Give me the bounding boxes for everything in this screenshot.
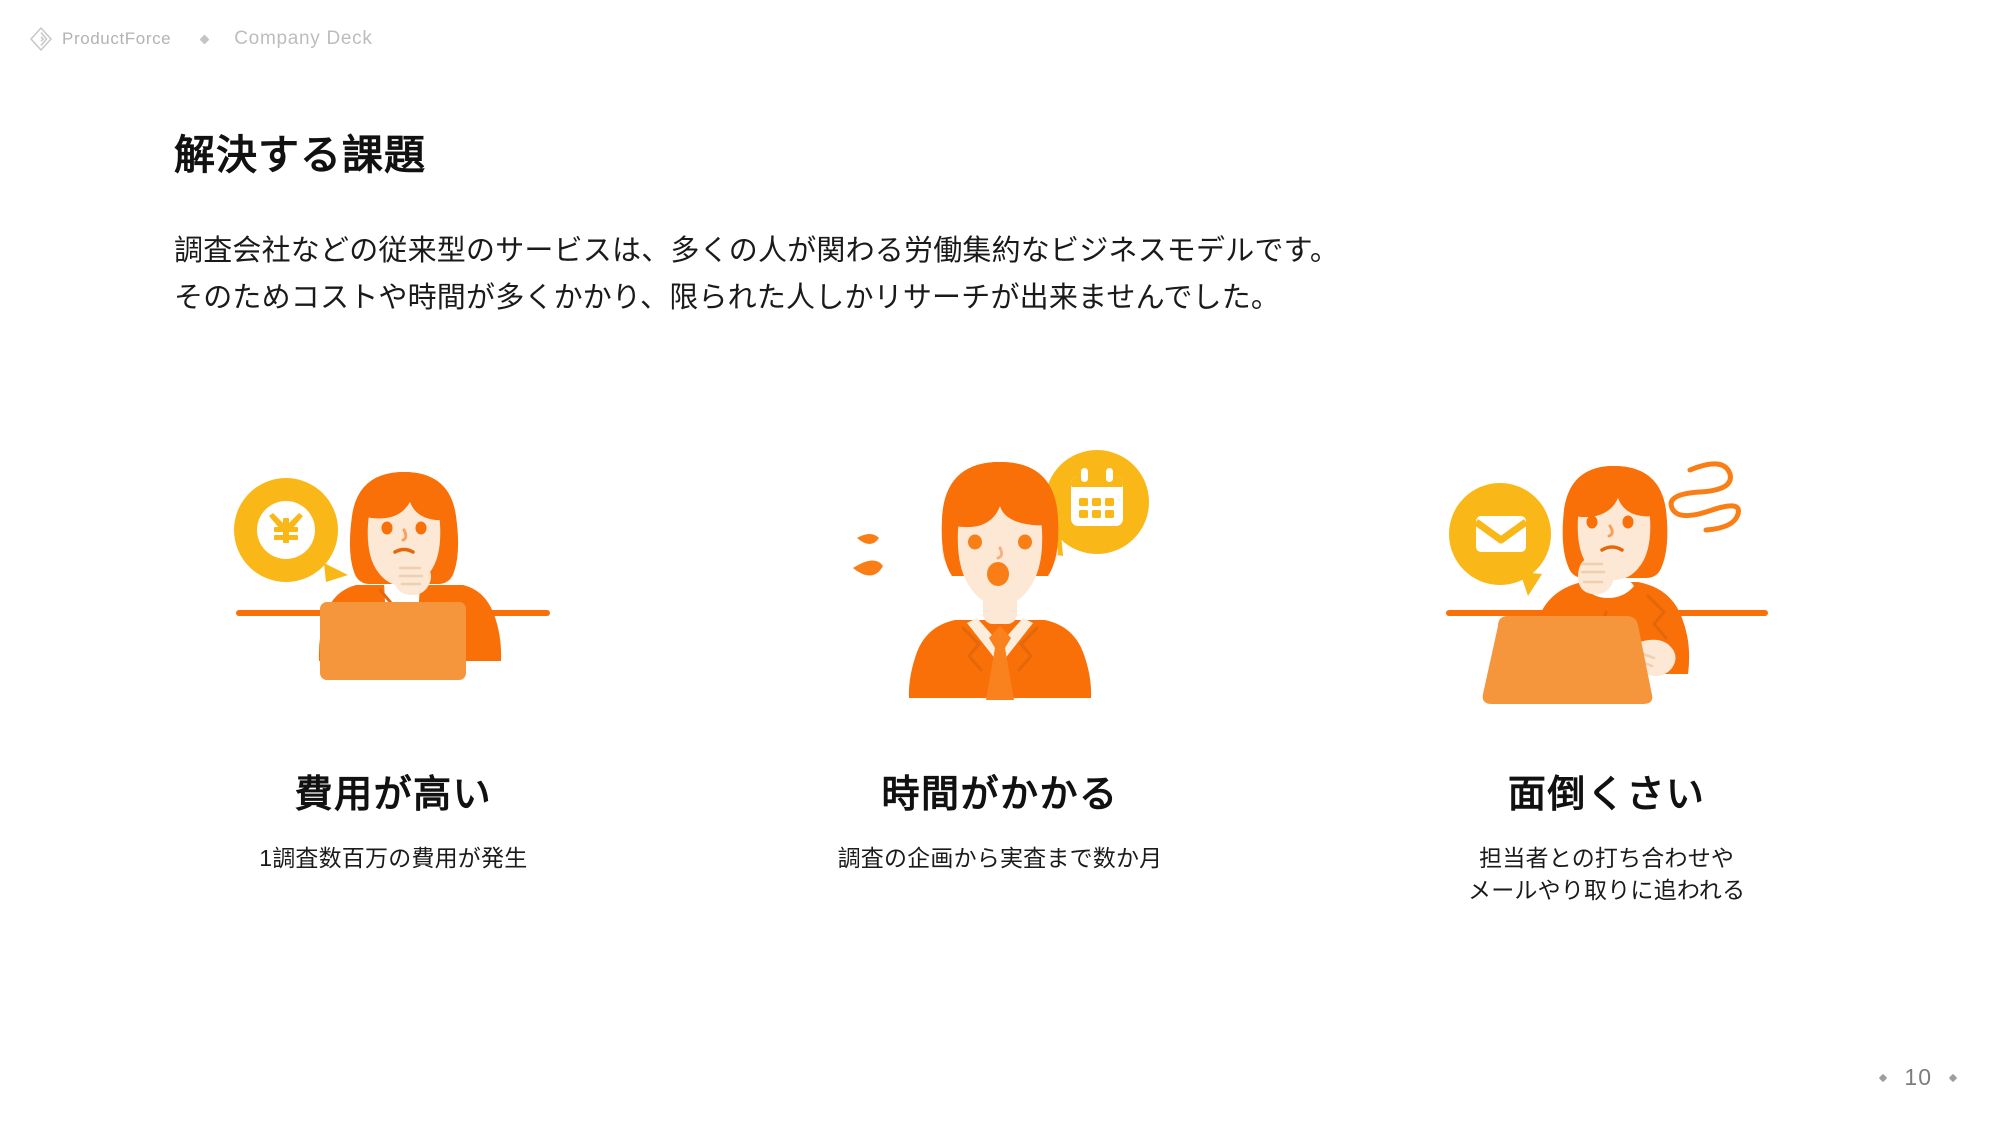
yen-speech-bubble-icon [234,478,348,582]
card-time: 時間がかかる 調査の企画から実査まで数か月 [697,430,1304,907]
card-title: 面倒くさい [1508,772,1706,820]
card-description-line-2: メールやり取りに追われる [1468,874,1745,907]
card-description: 担当者との打ち合わせや メールやり取りに追われる [1468,842,1745,907]
lead-line-2: そのためコストや時間が多くかかり、限られた人しかリサーチが出来ませんでした。 [174,275,1339,322]
productforce-diamond-logo-icon [30,27,52,51]
page-number: 10 [1904,1064,1932,1091]
page-indicator: 10 [1880,1064,1956,1091]
card-description-line-1: 調査の企画から実査まで数か月 [838,842,1163,875]
card-hassle: 面倒くさい 担当者との打ち合わせや メールやり取りに追われる [1303,430,1910,907]
card-title: 費用が高い [295,772,493,820]
mail-speech-bubble-icon [1449,483,1551,596]
brand-name: ProductForce [62,29,171,49]
card-title: 時間がかかる [881,772,1118,820]
diamond-dot-icon-left [1879,1073,1887,1081]
problem-cards: 費用が高い 1調査数百万の費用が発生 [90,430,1910,907]
deck-name: Company Deck [234,28,372,50]
sweat-drops-icon [853,534,883,576]
slide-header: ProductForce Company Deck [30,26,373,52]
card-description-line-1: 担当者との打ち合わせや [1468,842,1745,875]
diamond-dot-icon-right [1949,1073,1957,1081]
lead-paragraph: 調査会社などの従来型のサービスは、多くの人が関わる労働集約なビジネスモデルです。… [174,228,1339,322]
diamond-separator-icon [200,34,210,44]
card-cost: 費用が高い 1調査数百万の費用が発生 [90,430,697,907]
frustrated-woman-at-laptop-with-mail-bubble-illustration [1442,430,1772,730]
lead-line-1: 調査会社などの従来型のサービスは、多くの人が関わる労働集約なビジネスモデルです。 [174,228,1339,275]
card-description: 1調査数百万の費用が発生 [259,842,527,875]
woman-at-laptop-with-yen-bubble-illustration [228,430,558,730]
slide: ProductForce Company Deck 解決する課題 調査会社などの… [0,0,2000,1125]
card-description: 調査の企画から実査まで数か月 [838,842,1163,875]
frustration-scribble-icon [1671,464,1738,530]
surprised-businessman-with-calendar-bubble-illustration [835,430,1165,730]
page-title: 解決する課題 [174,131,426,180]
card-description-line-1: 1調査数百万の費用が発生 [259,842,527,875]
